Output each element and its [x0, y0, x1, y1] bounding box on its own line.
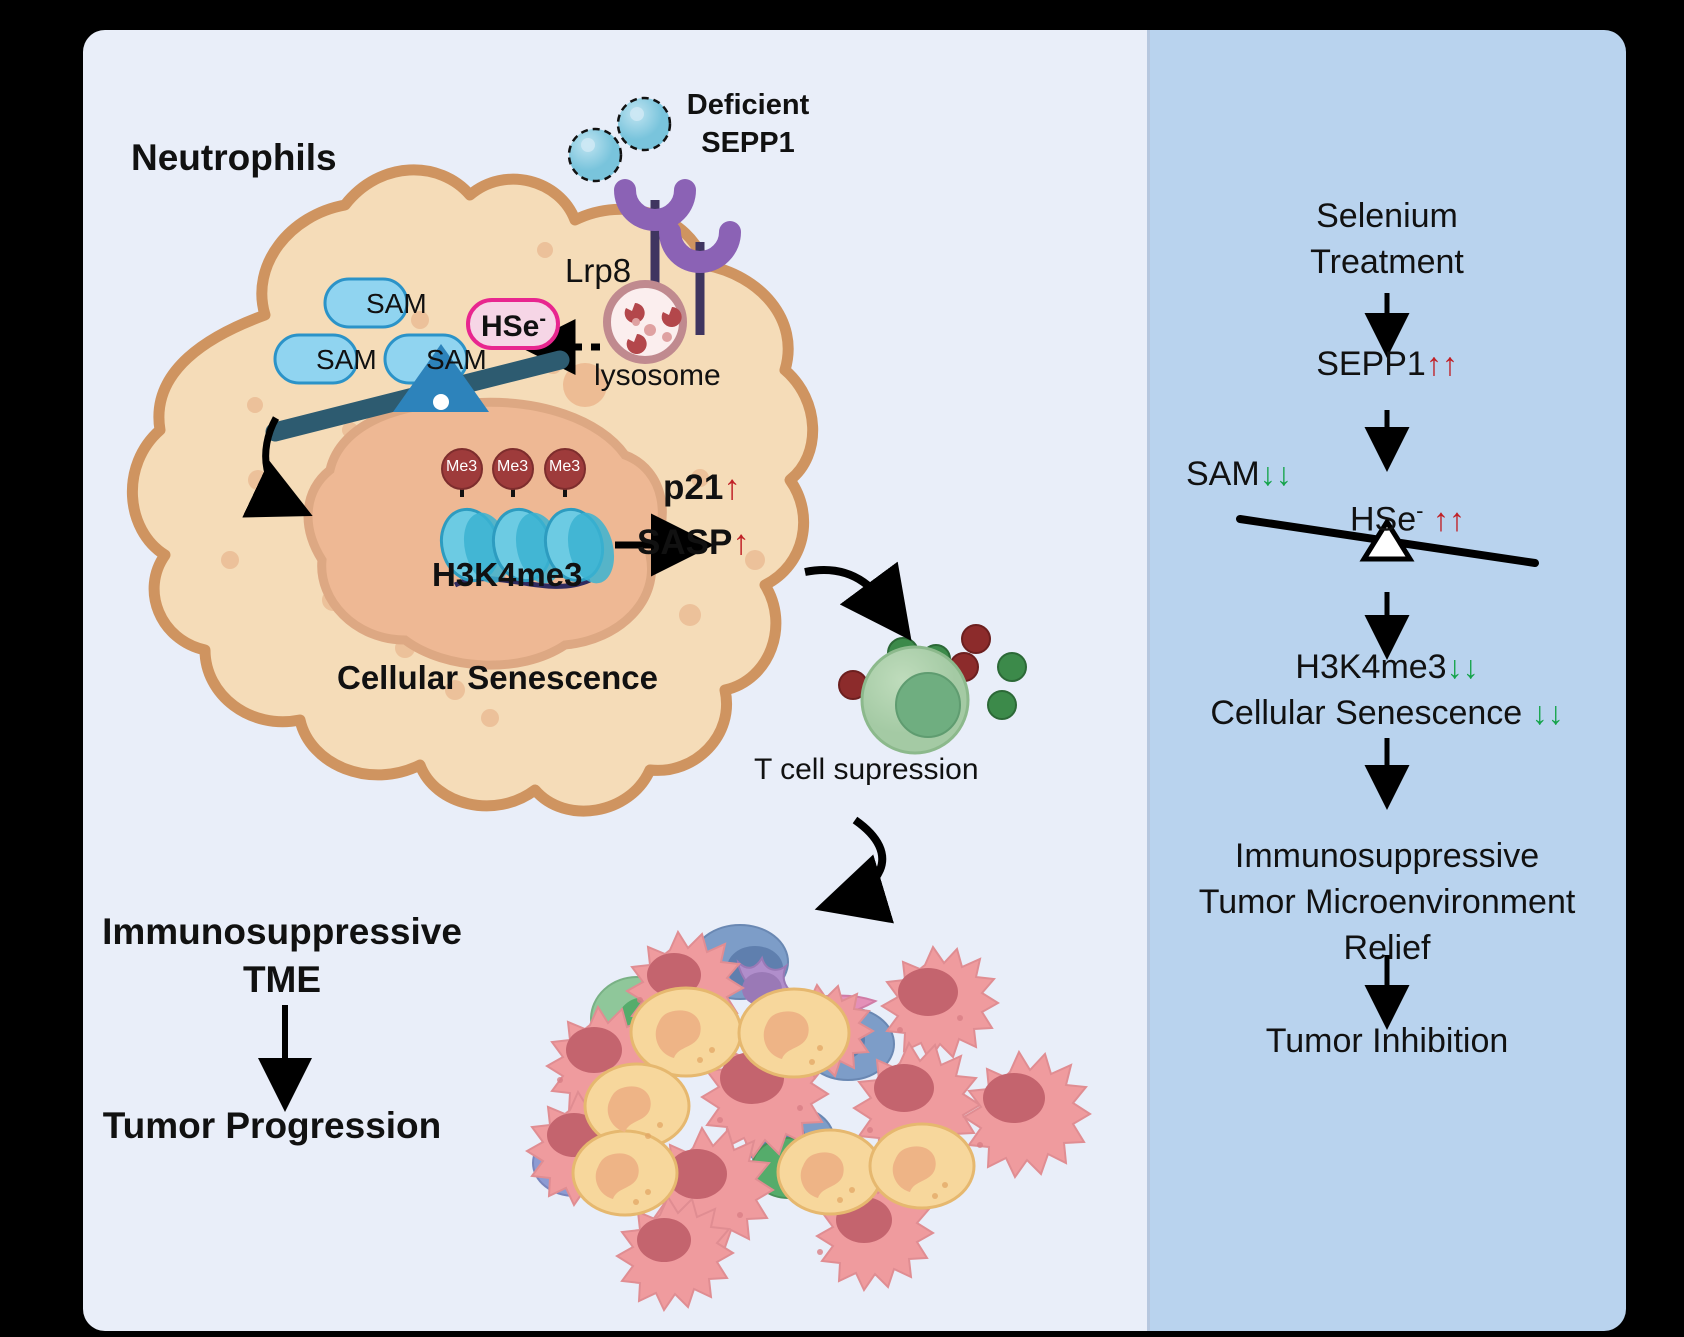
lysosome-label: lysosome	[594, 359, 721, 393]
h3k4me3-step-label: H3K4me3↓↓	[1295, 648, 1478, 687]
lrp8-label: Lrp8	[565, 252, 631, 290]
sam-label-3: SAM	[426, 344, 487, 376]
cellular-senescence-label: Cellular Senescence	[337, 659, 658, 697]
tumor-progression-label: Tumor Progression	[103, 1105, 442, 1147]
me3-label-1: Me3	[446, 458, 477, 476]
sepp1-step-label: SEPP1↑↑	[1316, 345, 1458, 384]
tme-relief-label: ImmunosuppressiveTumor MicroenvironmentR…	[1199, 833, 1576, 971]
senescence-step-label: Cellular Senescence ↓↓	[1210, 694, 1563, 733]
immunosuppressive-tme-label: ImmunosuppressiveTME	[102, 908, 462, 1004]
h3k4me3-label: H3K4me3	[432, 556, 582, 594]
sasp-effector: SASP↑	[637, 523, 750, 563]
sam-label-1: SAM	[366, 288, 427, 320]
page-title: Neutrophils	[131, 137, 337, 179]
me3-label-2: Me3	[497, 458, 528, 476]
tumor-inhibition-label: Tumor Inhibition	[1266, 1022, 1509, 1061]
me3-label-3: Me3	[549, 458, 580, 476]
balance-hse-label: HSe- ↑↑	[1350, 498, 1465, 539]
p21-effector: p21↑	[663, 468, 741, 508]
figure-root: Neutrophils DeficientSEPP1 Lrp8 lysosome…	[0, 0, 1684, 1337]
balance-sam-label: SAM↓↓	[1186, 455, 1292, 494]
hse-label: HSe-	[481, 308, 546, 344]
selenium-treatment-label: SeleniumTreatment	[1310, 193, 1464, 285]
sam-label-2: SAM	[316, 344, 377, 376]
deficient-sepp1-label: DeficientSEPP1	[687, 86, 809, 162]
t-cell-suppression-label: T cell supression	[754, 753, 979, 787]
